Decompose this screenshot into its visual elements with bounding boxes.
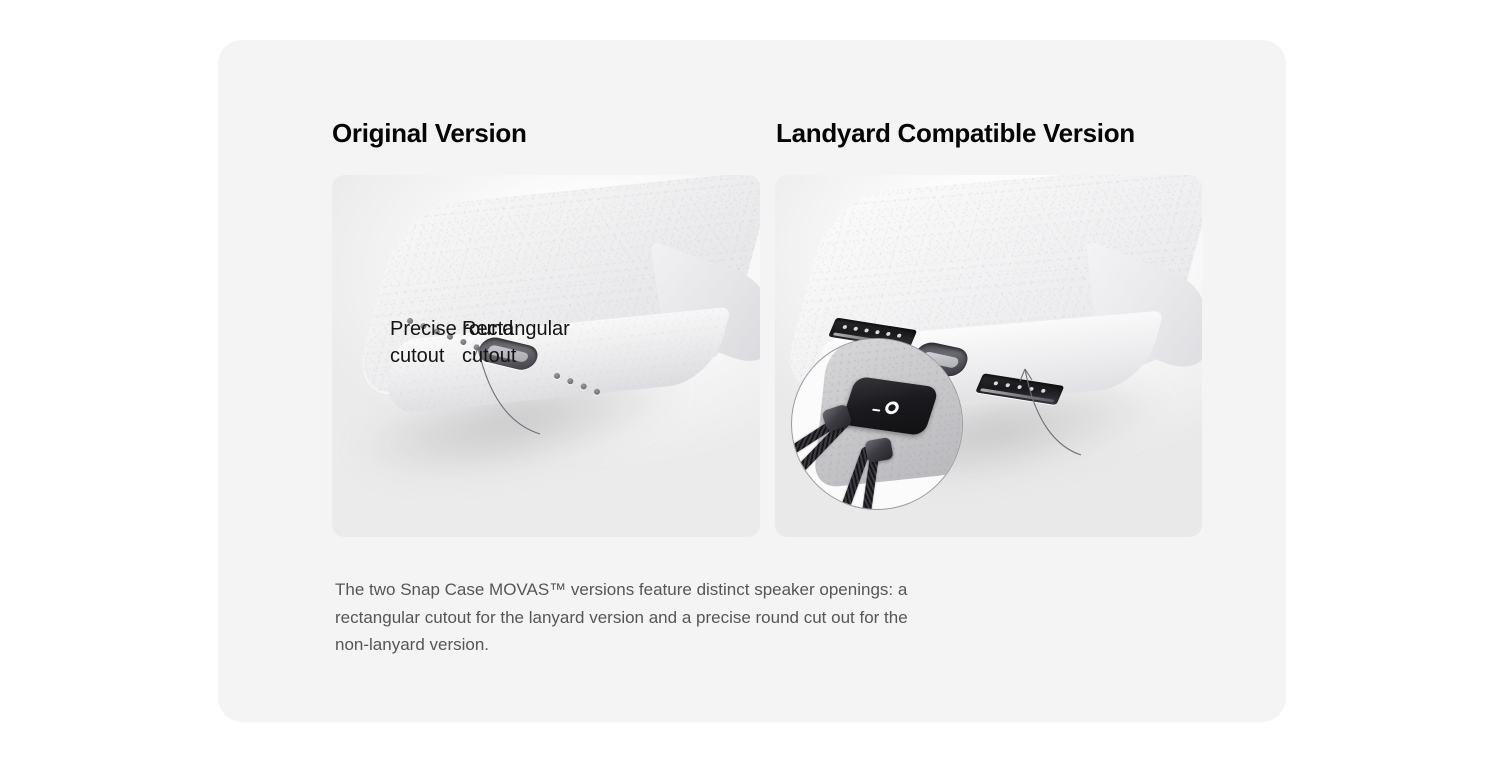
- caption-landyard: Rectangular cutout: [462, 316, 662, 370]
- speaker-hole-round: [580, 383, 587, 390]
- comparison-card: Original Version: [218, 40, 1286, 722]
- slot-grille-dots: [986, 380, 1054, 398]
- product-render-landyard: [775, 175, 1202, 537]
- lanyard-detail-inset: [791, 338, 963, 510]
- caption-line-2: cutout: [462, 343, 662, 370]
- speaker-hole-round: [567, 378, 574, 385]
- speaker-hole-round: [554, 373, 561, 380]
- product-image-panel-landyard: [775, 175, 1202, 537]
- speaker-hole-round: [593, 388, 600, 395]
- description-paragraph: The two Snap Case MOVAS™ versions featur…: [335, 576, 935, 659]
- inset-contents: [792, 339, 962, 509]
- page-root: Original Version: [0, 0, 1500, 770]
- caption-line-1: Rectangular: [462, 316, 662, 343]
- column-heading-landyard: Landyard Compatible Version: [776, 120, 1135, 146]
- lanyard-clasp: [864, 437, 893, 463]
- column-heading-original: Original Version: [332, 120, 527, 146]
- brand-logo-icon: [884, 401, 901, 415]
- brand-logo-dash-icon: [872, 409, 881, 412]
- speaker-slot-rectangular: [975, 373, 1064, 405]
